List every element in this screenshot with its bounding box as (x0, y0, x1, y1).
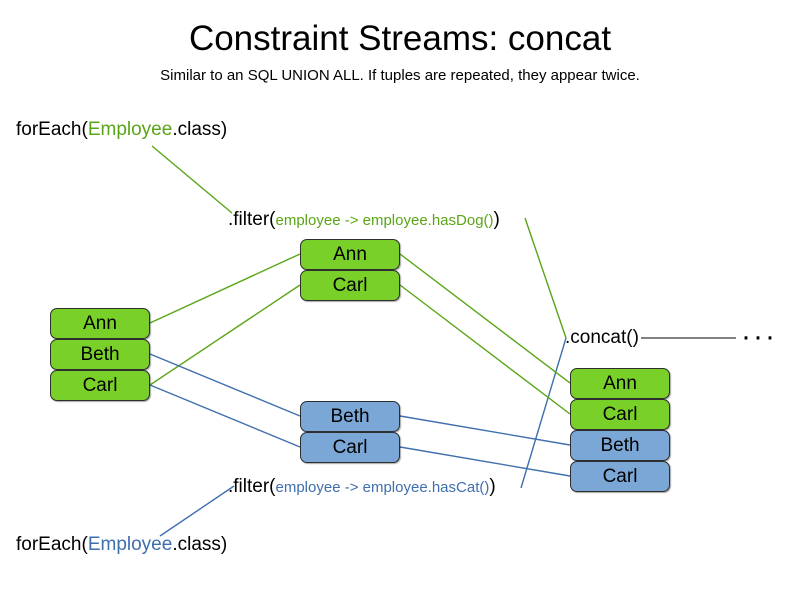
edge-cat-carl-to-out-carl (400, 447, 570, 476)
foreach-bottom-prefix: forEach( (16, 534, 88, 555)
tuple-box: Ann (50, 308, 150, 339)
edge-dog-carl-to-out-carl (400, 285, 570, 414)
foreach-top-type: Employee (88, 119, 173, 140)
tuple-label: Carl (603, 467, 638, 486)
leader-foreach-bottom (160, 486, 234, 536)
tuple-label: Carl (333, 438, 368, 457)
foreach-bottom-suffix: .class) (172, 534, 227, 555)
edge-cat-beth-to-out-beth (400, 416, 570, 445)
label-foreach-bottom: forEach(Employee.class) (16, 533, 227, 556)
tuple-label: Ann (83, 314, 117, 333)
label-filter-has-cat: .filter(employee -> employee.hasCat()) (228, 475, 496, 499)
foreach-top-suffix: .class) (172, 119, 227, 140)
tuple-label: Beth (600, 436, 639, 455)
edge-source-ann-to-dog-ann (150, 254, 300, 323)
label-filter-has-dog: .filter(employee -> employee.hasDog()) (228, 208, 500, 232)
diagram-canvas: Constraint Streams: concat Similar to an… (0, 0, 800, 600)
page-subtitle: Similar to an SQL UNION ALL. If tuples a… (0, 66, 800, 86)
foreach-bottom-type: Employee (88, 534, 173, 555)
edge-source-carl-to-cat-carl (150, 385, 300, 447)
filter-cat-prefix: .filter( (228, 476, 276, 497)
filter-dog-lambda: employee -> employee.hasDog() (276, 212, 494, 229)
label-foreach-top: forEach(Employee.class) (16, 118, 227, 141)
edge-dog-ann-to-out-ann (400, 254, 570, 383)
ellipsis-continuation: ··· (741, 322, 777, 352)
tuple-box: Ann (570, 368, 670, 399)
leader-foreach-top (152, 146, 232, 213)
tuple-box: Beth (570, 430, 670, 461)
filter-cat-suffix: ) (489, 476, 495, 497)
tuple-box: Carl (300, 432, 400, 463)
tuple-box: Carl (570, 399, 670, 430)
page-title: Constraint Streams: concat (0, 18, 800, 60)
foreach-top-prefix: forEach( (16, 119, 88, 140)
tuple-label: Carl (83, 376, 118, 395)
filter-dog-suffix: ) (494, 209, 500, 230)
filter-dog-prefix: .filter( (228, 209, 276, 230)
leader-filter-cat (521, 338, 566, 488)
tuple-box: Beth (50, 339, 150, 370)
tuple-box: Ann (300, 239, 400, 270)
tuple-box: Carl (300, 270, 400, 301)
label-concat: .concat() (565, 326, 639, 349)
connector-lines (0, 0, 800, 600)
tuple-label: Ann (603, 374, 637, 393)
tuple-box: Carl (570, 461, 670, 492)
tuple-label: Beth (330, 407, 369, 426)
tuple-label: Carl (333, 276, 368, 295)
tuple-box: Carl (50, 370, 150, 401)
edge-source-carl-to-dog-carl (150, 285, 300, 385)
tuple-label: Beth (80, 345, 119, 364)
filter-cat-lambda: employee -> employee.hasCat() (276, 479, 490, 496)
tuple-label: Ann (333, 245, 367, 264)
edge-source-beth-to-cat-beth (150, 354, 300, 416)
tuple-label: Carl (603, 405, 638, 424)
leader-filter-dog (525, 218, 566, 338)
tuple-box: Beth (300, 401, 400, 432)
